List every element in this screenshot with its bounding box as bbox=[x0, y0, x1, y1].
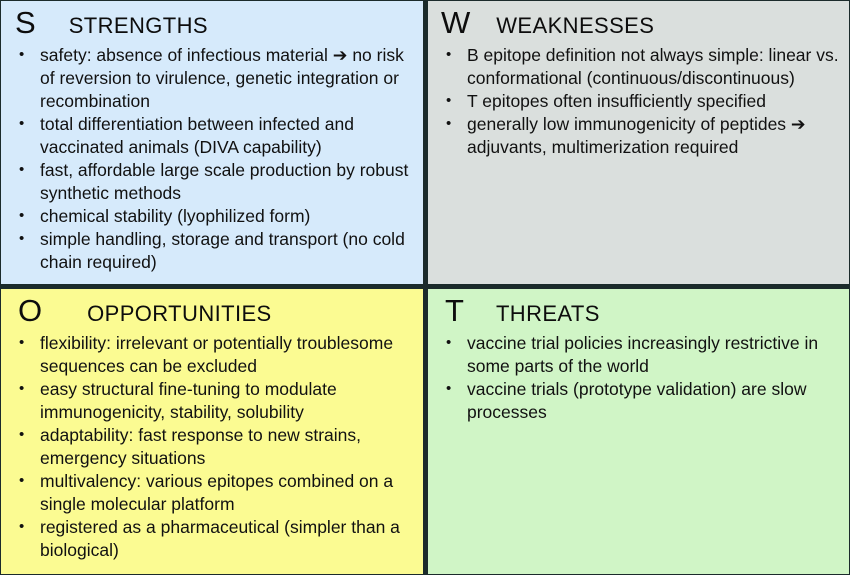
weaknesses-title: WEAKNESSES bbox=[496, 15, 654, 37]
list-item: safety: absence of infectious material ➔… bbox=[14, 44, 415, 113]
list-item: B epitope definition not always simple: … bbox=[441, 44, 841, 90]
list-item: generally low immunogenicity of peptides… bbox=[441, 113, 841, 159]
list-item: simple handling, storage and transport (… bbox=[14, 228, 415, 274]
quadrant-strengths: S STRENGTHS safety: absence of infectiou… bbox=[0, 0, 424, 285]
list-item: fast, affordable large scale production … bbox=[14, 159, 415, 205]
opportunities-letter: O bbox=[18, 295, 42, 326]
list-item: T epitopes often insufficiently specifie… bbox=[441, 90, 841, 113]
opportunities-title: OPPORTUNITIES bbox=[87, 303, 272, 325]
opportunities-list: flexibility: irrelevant or potentially t… bbox=[14, 332, 415, 562]
strengths-header: S STRENGTHS bbox=[9, 7, 415, 43]
strengths-letter: S bbox=[15, 7, 36, 38]
threats-letter: T bbox=[445, 295, 464, 326]
list-item: flexibility: irrelevant or potentially t… bbox=[14, 332, 415, 378]
quadrant-threats: T THREATS vaccine trial policies increas… bbox=[427, 288, 850, 575]
list-item: vaccine trial policies increasingly rest… bbox=[441, 332, 841, 378]
list-item: multivalency: various epitopes combined … bbox=[14, 470, 415, 516]
list-item: total differentiation between infected a… bbox=[14, 113, 415, 159]
list-item: easy structural fine-tuning to modulate … bbox=[14, 378, 415, 424]
list-item: chemical stability (lyophilized form) bbox=[14, 205, 415, 228]
threats-title: THREATS bbox=[496, 303, 600, 325]
threats-header: T THREATS bbox=[436, 295, 841, 331]
strengths-title: STRENGTHS bbox=[69, 15, 208, 37]
weaknesses-letter: W bbox=[441, 7, 470, 38]
quadrant-opportunities: O OPPORTUNITIES flexibility: irrelevant … bbox=[0, 288, 424, 575]
strengths-list: safety: absence of infectious material ➔… bbox=[14, 44, 415, 274]
swot-matrix: S STRENGTHS safety: absence of infectiou… bbox=[0, 0, 850, 575]
list-item: vaccine trials (prototype validation) ar… bbox=[441, 378, 841, 424]
quadrant-weaknesses: W WEAKNESSES B epitope definition not al… bbox=[427, 0, 850, 285]
weaknesses-header: W WEAKNESSES bbox=[436, 7, 841, 43]
weaknesses-list: B epitope definition not always simple: … bbox=[441, 44, 841, 159]
opportunities-header: O OPPORTUNITIES bbox=[9, 295, 415, 331]
threats-list: vaccine trial policies increasingly rest… bbox=[441, 332, 841, 424]
list-item: adaptability: fast response to new strai… bbox=[14, 424, 415, 470]
list-item: registered as a pharmaceutical (simpler … bbox=[14, 516, 415, 562]
